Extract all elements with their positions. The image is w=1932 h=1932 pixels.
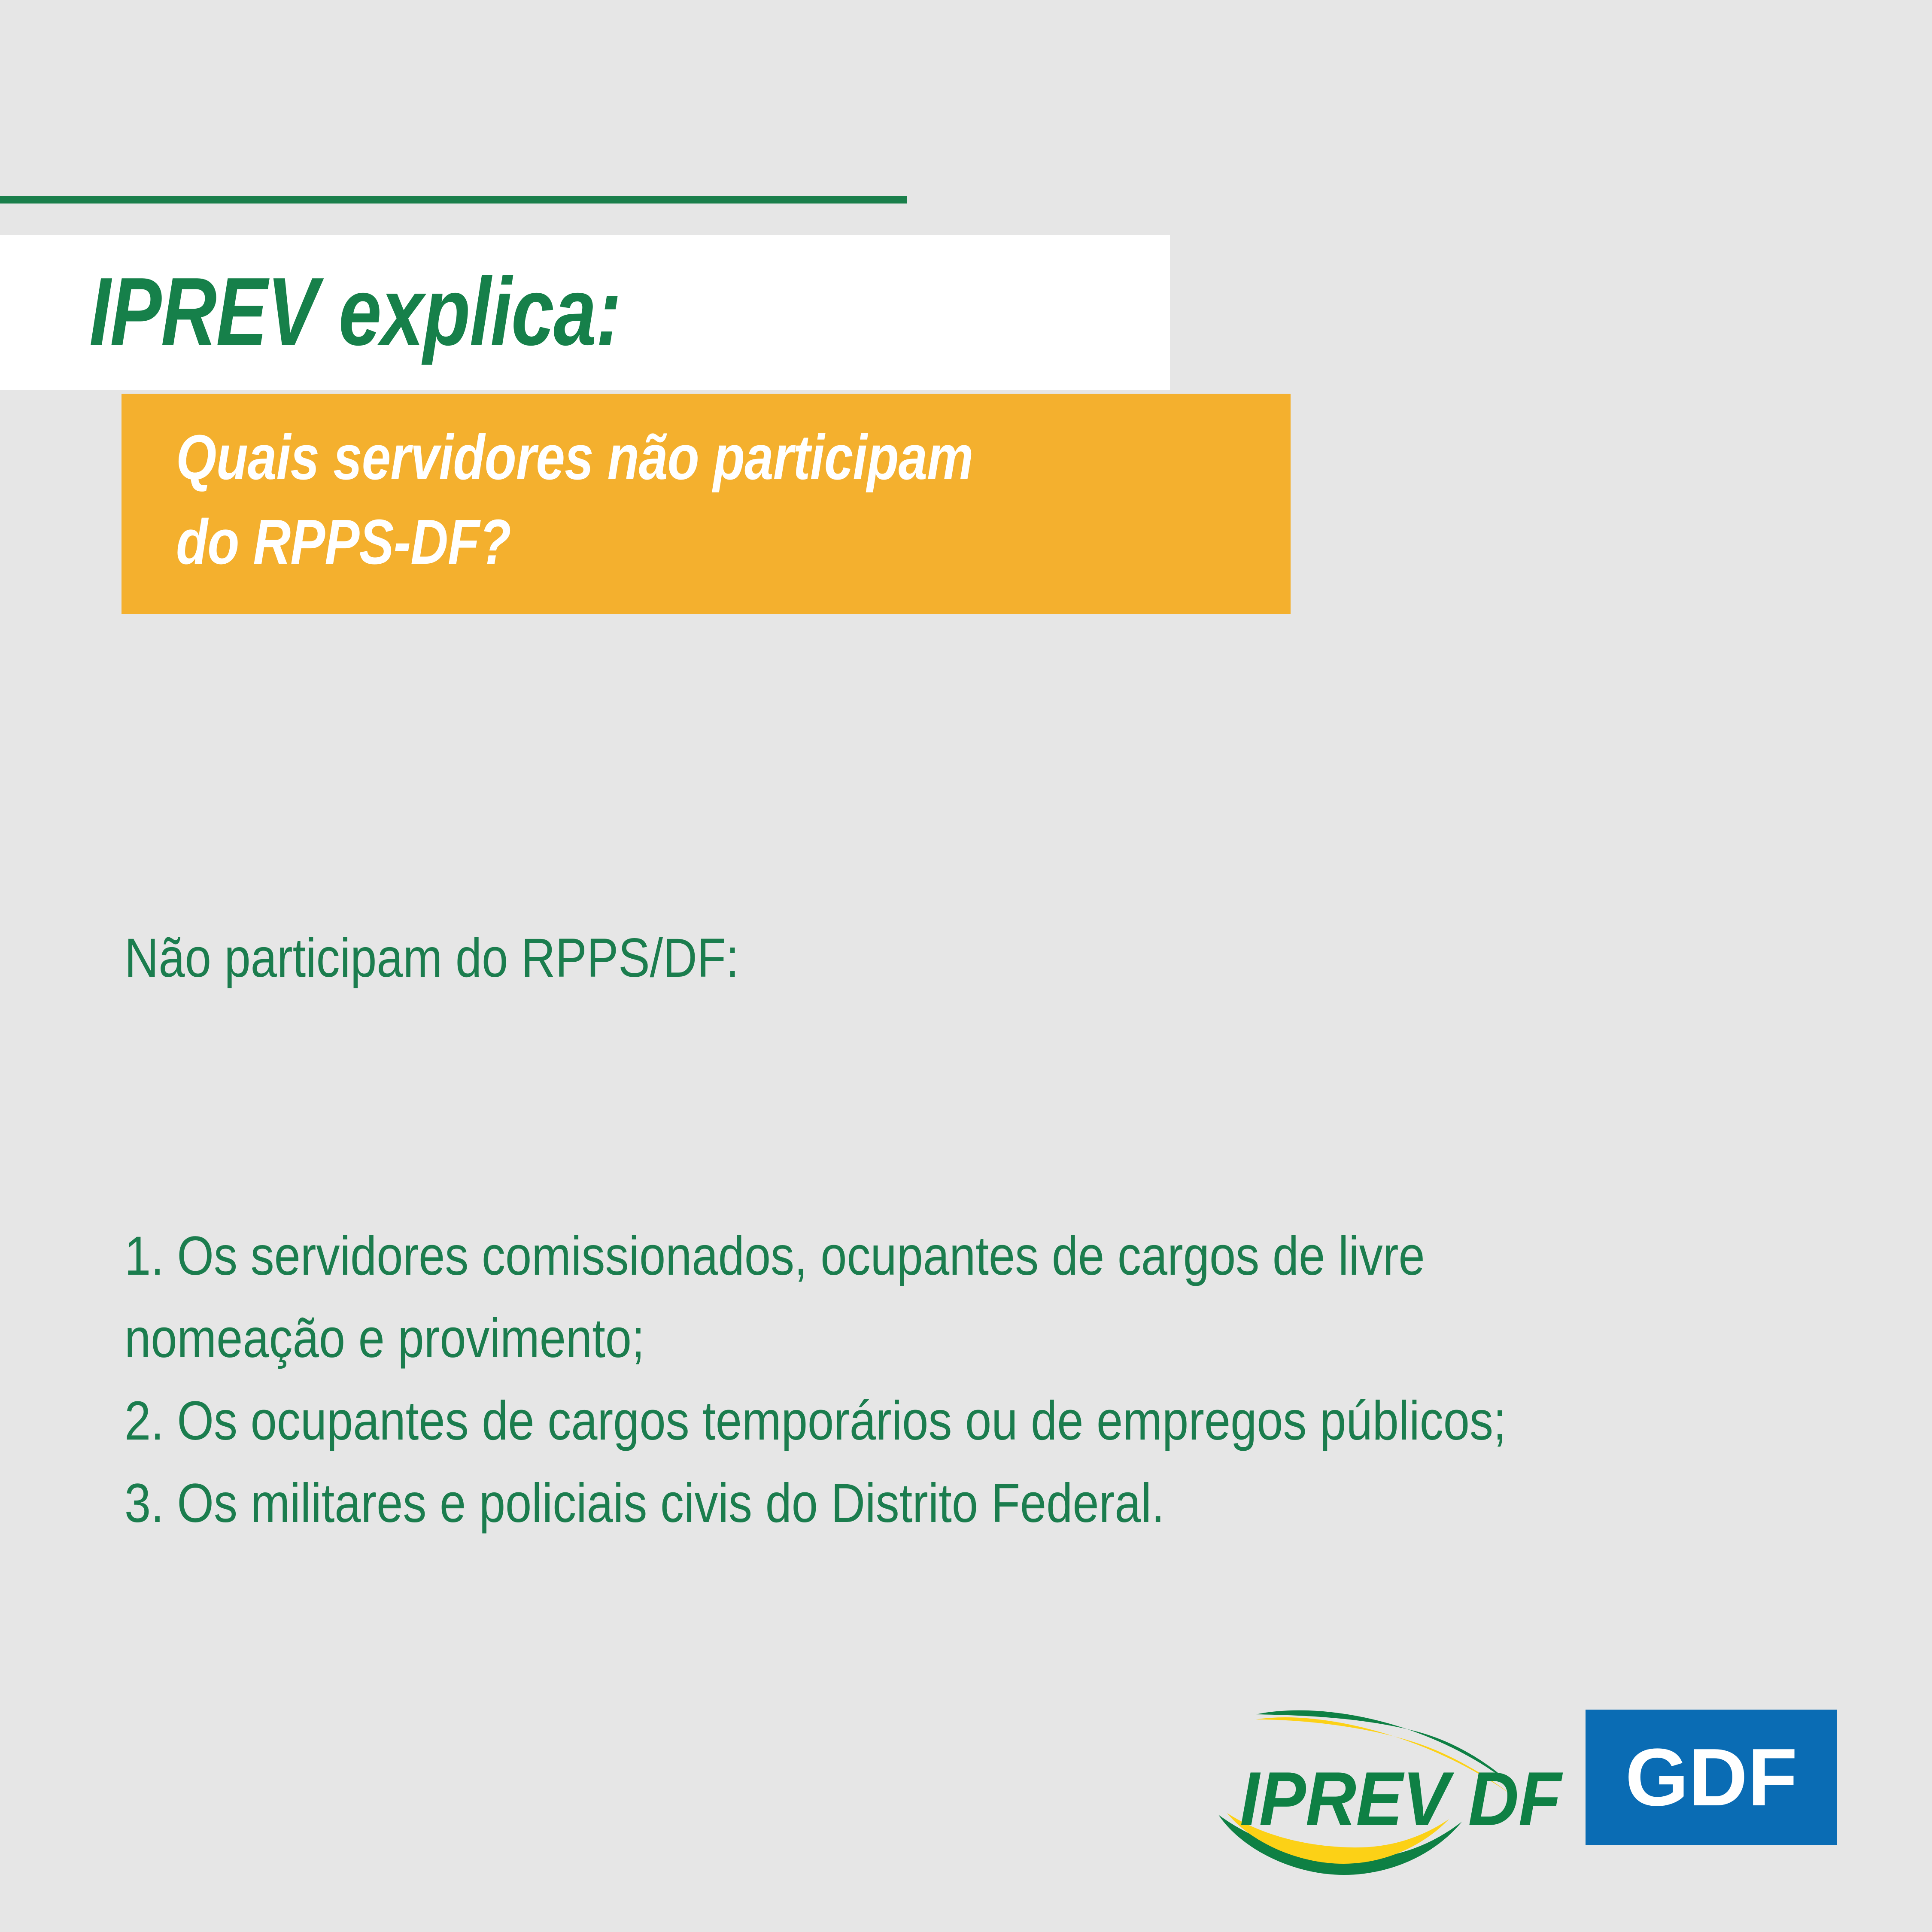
body-copy: Não participam do RPPS/DF: 1. Os servido… xyxy=(125,752,1564,1710)
footer-logo-row: IPREV DF GDF xyxy=(1215,1707,1842,1878)
page-subtitle: Quais servidores não participam do RPPS-… xyxy=(176,416,973,585)
gdf-wordmark: GDF xyxy=(1586,1710,1837,1845)
infographic-card: IPREV explica: Quais servidores não part… xyxy=(0,0,1932,1932)
iprev-df-wordmark: IPREV DF xyxy=(1240,1761,1561,1837)
top-green-rule xyxy=(0,196,907,204)
gdf-logo: GDF xyxy=(1586,1710,1837,1845)
body-lead-text: Não participam do RPPS/DF: xyxy=(125,917,1564,999)
body-list-text: 1. Os servidores comissionados, ocupante… xyxy=(125,1215,1564,1545)
page-title: IPREV explica: xyxy=(89,263,621,360)
iprev-df-logo: IPREV DF xyxy=(1215,1707,1593,1878)
